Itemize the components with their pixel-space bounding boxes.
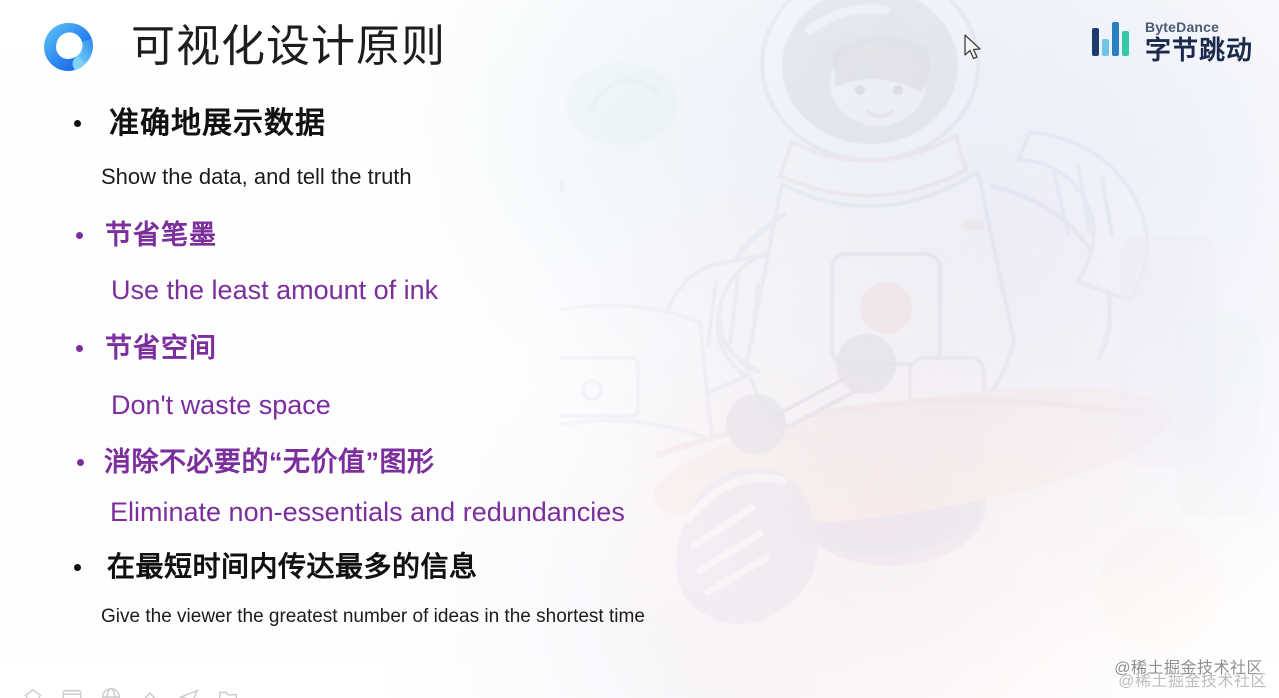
home-icon[interactable] [22,686,44,698]
send-icon[interactable] [178,686,200,698]
slide-body: 准确地展示数据 Show the data, and tell the trut… [0,104,900,632]
bytedance-chinese-name: 字节跳动 [1145,37,1253,63]
bullet-marker-icon [76,232,83,239]
slide-canvas: 可视化设计原则 ByteDance 字节跳动 准确地展示数据 Show the … [0,0,1279,698]
bullet-item-3: 节省空间 Don't waste space [0,330,900,424]
watermark: @稀土掘金技术社区 @稀土掘金技术社区 [1114,660,1263,696]
bullet-heading-cn: 消除不必要的“无价值”图形 [70,444,900,480]
bytedance-brand-lockup: ByteDance 字节跳动 [1091,20,1253,63]
bullet-marker-icon [74,564,81,571]
browser-circle-logo-icon [41,20,95,74]
globe-icon[interactable] [100,686,122,698]
bullet-subtext-en: Give the viewer the greatest number of i… [70,602,900,632]
bullet-subtext-en: Use the least amount of ink [70,271,900,309]
bullet-heading-cn: 节省空间 [70,330,900,366]
bullet-marker-icon [77,459,84,466]
bullet-heading-cn: 准确地展示数据 [70,104,900,144]
bullet-marker-icon [74,120,81,127]
bottom-toolbar[interactable] [22,686,239,698]
bullet-item-5: 在最短时间内传达最多的信息 Give the viewer the greate… [0,548,900,632]
bullet-subtext-en: Eliminate non-essentials and redundancie… [70,494,900,530]
bullet-heading-cn: 节省笔墨 [70,216,900,254]
bullet-subtext-en: Don't waste space [70,386,900,424]
bytedance-english-name: ByteDance [1145,20,1253,34]
bullet-item-2: 节省笔墨 Use the least amount of ink [0,216,900,309]
bullet-heading-cn: 在最短时间内传达最多的信息 [70,548,900,586]
bullet-marker-icon [76,345,83,352]
folder-icon[interactable] [217,686,239,698]
watermark-line-primary: @稀土掘金技术社区 [1114,660,1263,678]
bytedance-text: ByteDance 字节跳动 [1145,20,1253,63]
bullet-item-4: 消除不必要的“无价值”图形 Eliminate non-essentials a… [0,444,900,530]
chevron-up-icon[interactable] [139,686,161,698]
bytedance-bars-logo-icon [1091,22,1135,62]
window-icon[interactable] [61,686,83,698]
slide-header: 可视化设计原则 ByteDance 字节跳动 [0,0,1279,96]
bullet-subtext-en: Show the data, and tell the truth [70,160,900,194]
watermark-line-secondary: @稀土掘金技术社区 [1118,673,1267,691]
bullet-item-1: 准确地展示数据 Show the data, and tell the trut… [0,104,900,194]
page-title: 可视化设计原则 [131,16,446,78]
